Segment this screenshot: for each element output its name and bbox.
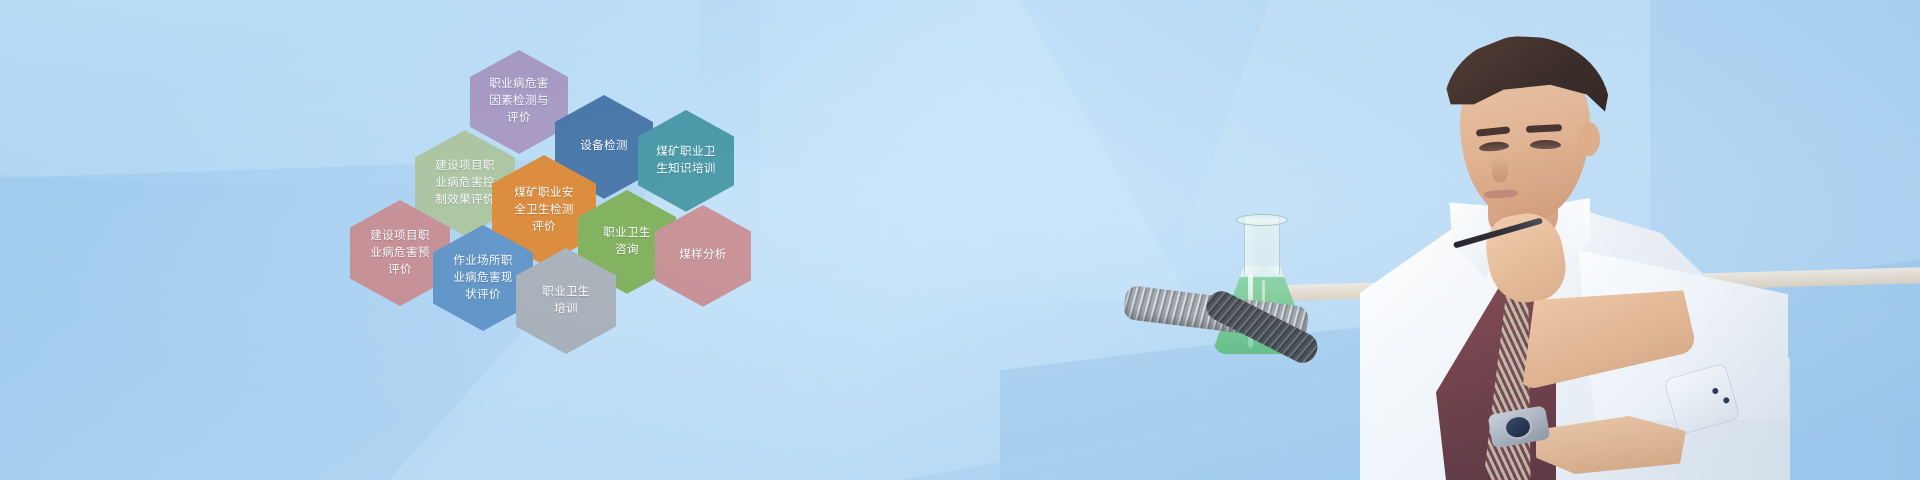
cuff-button-2: [1723, 397, 1730, 404]
flask-lip: [1236, 214, 1288, 226]
ear: [1578, 122, 1600, 156]
person-figure: [1340, 18, 1860, 480]
flask-neck: [1244, 218, 1280, 274]
nose: [1492, 156, 1508, 182]
eye-right: [1530, 140, 1561, 149]
hex-occupational-disease-hazard-factor-detection[interactable]: 职业病危害因素检测与评价: [470, 50, 568, 154]
service-hexagon-cluster: 职业病危害因素检测与评价 设备检测 煤矿职业卫生知识培训 建设项目职业病危害控制…: [330, 50, 760, 340]
cuff-button-1: [1712, 387, 1719, 394]
banner-hero: 职业病危害因素检测与评价 设备检测 煤矿职业卫生知识培训 建设项目职业病危害控制…: [0, 0, 1920, 480]
lab-photo-scene: [1140, 0, 1920, 480]
watch-face: [1502, 413, 1534, 441]
